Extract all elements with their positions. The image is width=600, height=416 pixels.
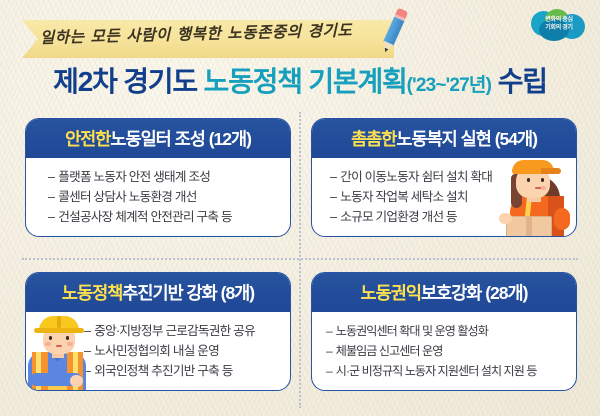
- divider-horizontal: [22, 258, 578, 260]
- logo-text-line1: 변화의 중심: [531, 16, 587, 24]
- list-item: 노사민정협의회 내실 운영: [84, 341, 280, 361]
- card-item-list: 중앙·지방정부 근로감독권한 공유 노사민정협의회 내실 운영 외국인정책 추진…: [84, 321, 280, 381]
- construction-worker-illustration: [26, 314, 96, 391]
- page-title: 제2차 경기도 노동정책 기본계획('23~'27년) 수립: [0, 66, 600, 102]
- infographic-page: 변화의 중심 기회의 경기 일하는 모든 사람이 행복한 노동존중의 경기도 제…: [0, 0, 600, 416]
- card-header-rest: 보호강화 (28개): [421, 280, 527, 305]
- list-item: 외국인정책 추진기반 구축 등: [84, 361, 280, 381]
- list-item: 중앙·지방정부 근로감독권한 공유: [84, 321, 280, 341]
- gyeonggi-province-logo: 변화의 중심 기회의 경기: [531, 9, 587, 43]
- card-header-highlight: 노동정책: [62, 280, 122, 305]
- card-header-rest: 노동일터 조성 (12개): [110, 126, 251, 151]
- list-item: 체불임금 신고센터 운영: [326, 341, 566, 361]
- card-header-rest: 추진기반 강화 (8개): [122, 280, 254, 305]
- card-header: 안전한 노동일터 조성 (12개): [26, 119, 290, 158]
- card-header-rest: 노동복지 실현 (54개): [396, 126, 537, 151]
- card-body: 노동권익센터 확대 및 운영 활성화 체불임금 신고센터 운영 시·군 비정규직…: [312, 312, 576, 391]
- card-body: 중앙·지방정부 근로감독권한 공유 노사민정협의회 내실 운영 외국인정책 추진…: [26, 312, 290, 391]
- card-header-highlight: 안전한: [65, 126, 110, 151]
- card-header: 노동권익 보호강화 (28개): [312, 273, 576, 312]
- page-title-part3: 수립: [491, 66, 547, 97]
- page-title-years: ('23~'27년): [407, 75, 492, 96]
- delivery-worker-illustration: [490, 160, 574, 237]
- policy-card-labor-rights: 노동권익 보호강화 (28개) 노동권익센터 확대 및 운영 활성화 체불임금 …: [311, 272, 577, 391]
- list-item: 시·군 비정규직 노동자 지원센터 설치 지원 등: [326, 361, 566, 381]
- list-item: 노동권익센터 확대 및 운영 활성화: [326, 321, 566, 341]
- card-header: 촘촘한 노동복지 실현 (54개): [312, 119, 576, 158]
- logo-text: 변화의 중심 기회의 경기: [531, 16, 587, 32]
- card-header-highlight: 노동권익: [361, 280, 421, 305]
- page-title-part1: 제2차 경기도: [53, 66, 203, 97]
- card-body: 간이 이동노동자 쉼터 설치 확대 노동자 작업복 세탁소 설치 소규모 기업환…: [312, 158, 576, 237]
- policy-card-labor-welfare: 촘촘한 노동복지 실현 (54개) 간이 이동노동자 쉼터 설치 확대 노동자 …: [311, 118, 577, 237]
- card-header-highlight: 촘촘한: [351, 126, 396, 151]
- list-item: 플랫폼 노동자 안전 생태계 조성: [48, 167, 280, 187]
- policy-card-policy-foundation: 노동정책 추진기반 강화 (8개) 중앙·지방정부 근로감독권한 공유 노사민정…: [25, 272, 291, 391]
- divider-vertical: [299, 112, 301, 408]
- list-item: 건설공사장 체계적 안전관리 구축 등: [48, 207, 280, 227]
- card-header: 노동정책 추진기반 강화 (8개): [26, 273, 290, 312]
- logo-text-line2: 기회의 경기: [531, 24, 587, 32]
- policy-card-safe-workplace: 안전한 노동일터 조성 (12개) 플랫폼 노동자 안전 생태계 조성 콜센터 …: [25, 118, 291, 237]
- card-body: 플랫폼 노동자 안전 생태계 조성 콜센터 상담사 노동환경 개선 건설공사장 …: [26, 158, 290, 237]
- card-item-list: 노동권익센터 확대 및 운영 활성화 체불임금 신고센터 운영 시·군 비정규직…: [326, 321, 566, 381]
- card-item-list: 플랫폼 노동자 안전 생태계 조성 콜센터 상담사 노동환경 개선 건설공사장 …: [48, 167, 280, 227]
- list-item: 콜센터 상담사 노동환경 개선: [48, 187, 280, 207]
- page-title-part2: 노동정책 기본계획: [204, 66, 407, 97]
